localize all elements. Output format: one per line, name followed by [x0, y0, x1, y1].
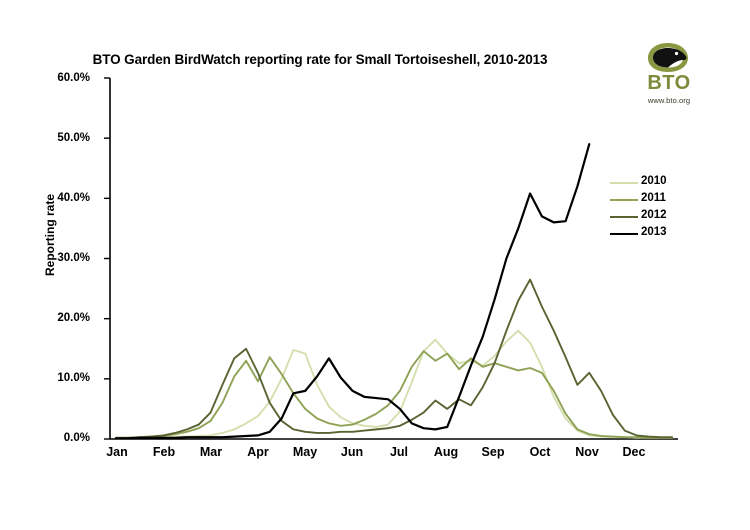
y-tick-marks: [104, 78, 110, 439]
x-tick-label-jul: Jul: [376, 445, 422, 459]
x-tick-label-feb: Feb: [141, 445, 187, 459]
legend-swatch-2010: [610, 182, 638, 184]
legend-label-2010: 2010: [641, 175, 667, 187]
x-tick-label-mar: Mar: [188, 445, 234, 459]
x-tick-label-apr: Apr: [235, 445, 281, 459]
legend-label-2013: 2013: [641, 226, 667, 238]
series-line-2013: [116, 144, 589, 438]
series-layer: [116, 144, 672, 438]
series-line-2010: [116, 331, 672, 438]
legend-swatch-2012: [610, 216, 638, 218]
series-line-2012: [116, 280, 672, 438]
y-tick-label-5: 50.0%: [32, 132, 90, 144]
legend-label-2012: 2012: [641, 209, 667, 221]
bto-bird-eye-logo-mark: [646, 42, 690, 73]
y-tick-label-2: 20.0%: [32, 312, 90, 324]
bto-wordmark: BTO: [626, 72, 712, 95]
legend-item-2012[interactable]: 2012: [610, 209, 706, 226]
y-axis-title: Reporting rate: [43, 165, 57, 305]
chart-title: BTO Garden BirdWatch reporting rate for …: [0, 52, 640, 67]
legend-item-2013[interactable]: 2013: [610, 226, 706, 243]
series-line-2011: [116, 351, 672, 438]
x-tick-label-sep: Sep: [470, 445, 516, 459]
y-tick-label-4: 40.0%: [32, 192, 90, 204]
legend-swatch-2013: [610, 233, 638, 235]
chart-container: BTO Garden BirdWatch reporting rate for …: [0, 0, 750, 530]
legend-item-2011[interactable]: 2011: [610, 192, 706, 209]
x-tick-label-nov: Nov: [564, 445, 610, 459]
bto-logo: BTO www.bto.org: [626, 42, 712, 104]
y-tick-label-6: 60.0%: [32, 72, 90, 84]
legend-swatch-2011: [610, 199, 638, 201]
x-tick-label-jun: Jun: [329, 445, 375, 459]
x-tick-label-dec: Dec: [611, 445, 657, 459]
bto-url: www.bto.org: [626, 96, 712, 105]
legend: 2010 2011 2012 2013: [610, 175, 706, 243]
x-tick-label-oct: Oct: [517, 445, 563, 459]
x-tick-label-may: May: [282, 445, 328, 459]
x-tick-label-aug: Aug: [423, 445, 469, 459]
y-tick-label-1: 10.0%: [32, 372, 90, 384]
legend-item-2010[interactable]: 2010: [610, 175, 706, 192]
y-tick-label-0: 0.0%: [32, 432, 90, 444]
x-tick-label-jan: Jan: [94, 445, 140, 459]
legend-label-2011: 2011: [641, 192, 666, 204]
y-tick-label-3: 30.0%: [32, 252, 90, 264]
